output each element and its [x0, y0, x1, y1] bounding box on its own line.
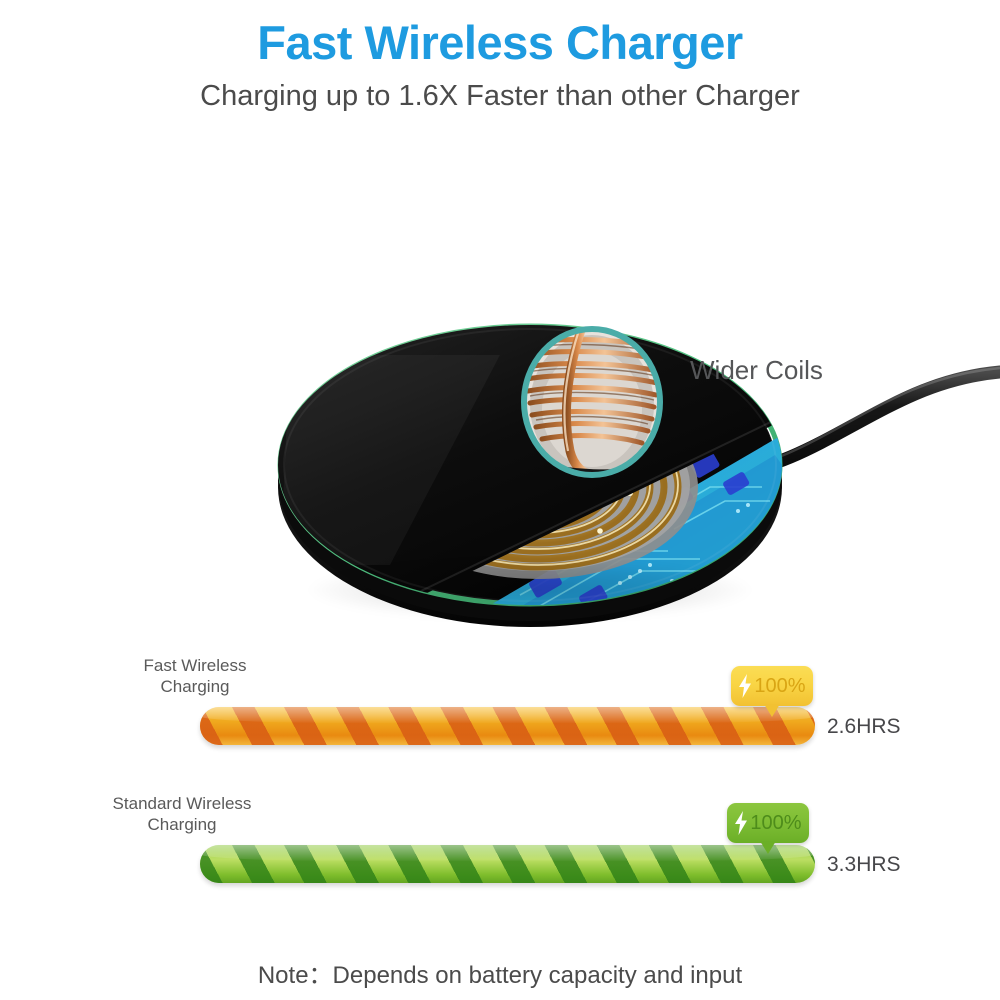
badge-tail-standard — [760, 841, 776, 854]
footer-note: Note：Depends on battery capacity and inp… — [0, 955, 1000, 990]
row-label-fast-line2: Charging — [75, 676, 315, 697]
badge-percent-fast-text: 100% — [754, 675, 805, 698]
duration-label-standard: 3.3HRS — [827, 853, 901, 877]
badge-percent-standard-text: 100% — [750, 812, 801, 835]
charging-comparison-chart: Fast Wireless Charging 2.6HRS Standard W… — [0, 645, 1000, 905]
badge-tail-fast — [764, 704, 780, 717]
infographic-page: Fast Wireless Charger Charging up to 1.6… — [0, 0, 1000, 1000]
page-subtitle: Charging up to 1.6X Faster than other Ch… — [0, 80, 1000, 113]
badge-percent-standard: 100% — [727, 803, 809, 843]
duration-label-fast: 2.6HRS — [827, 715, 901, 739]
progress-bar-standard — [200, 845, 815, 883]
progress-bar-fast-gloss — [200, 707, 815, 723]
page-title: Fast Wireless Charger — [0, 18, 1000, 67]
badge-percent-fast: 100% — [731, 666, 813, 706]
row-label-fast: Fast Wireless Charging — [75, 655, 315, 698]
row-label-fast-line1: Fast Wireless — [75, 655, 315, 676]
row-label-standard-line1: Standard Wireless — [62, 793, 302, 814]
progress-bar-fast — [200, 707, 815, 745]
magnifier-icon — [518, 325, 666, 480]
comparison-row-standard: Standard Wireless Charging 3.3HRS — [0, 783, 1000, 903]
progress-bar-standard-gloss — [200, 845, 815, 861]
pad-shadow — [310, 560, 750, 620]
comparison-row-fast: Fast Wireless Charging 2.6HRS — [0, 645, 1000, 765]
row-label-standard-line2: Charging — [62, 814, 302, 835]
hero-product-image: Wider Coils — [0, 150, 1000, 660]
callout-label-wider-coils: Wider Coils — [690, 355, 823, 386]
row-label-standard: Standard Wireless Charging — [62, 793, 302, 836]
lightning-bolt-icon — [734, 811, 748, 835]
lightning-bolt-icon — [738, 674, 752, 698]
